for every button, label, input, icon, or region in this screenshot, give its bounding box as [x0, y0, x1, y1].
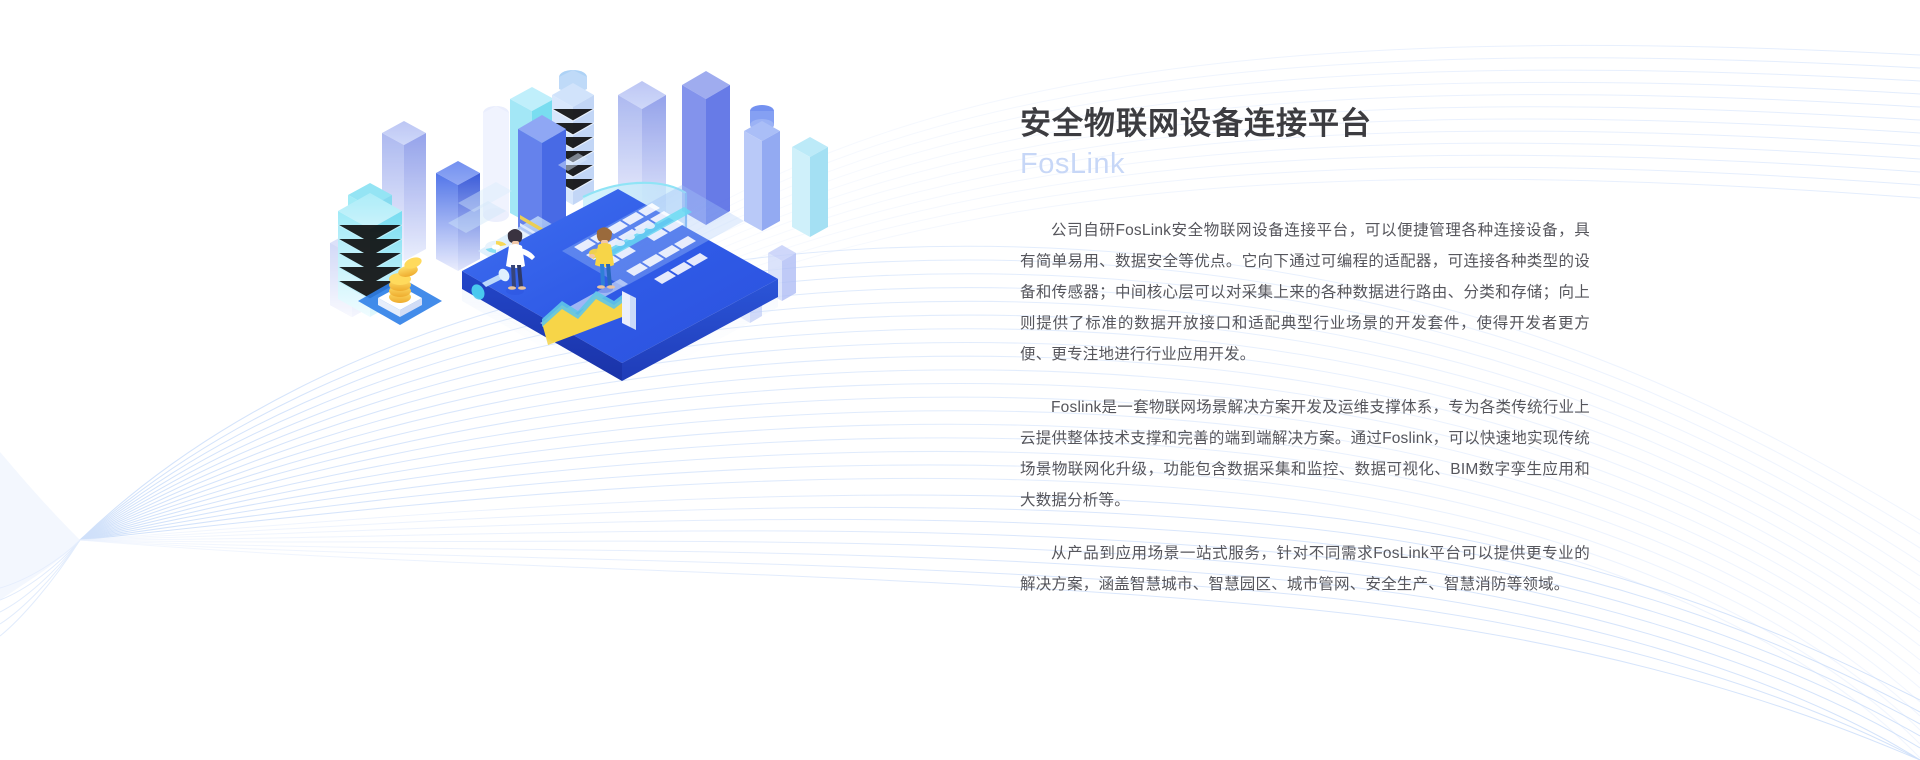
iot-platform-illustration: [330, 55, 830, 395]
description-paragraph: 公司自研FosLink安全物联网设备连接平台，可以便捷管理各种连接设备，具有简单…: [1020, 215, 1590, 370]
background-wave-lines: [0, 0, 1920, 760]
description-paragraph: 从产品到应用场景一站式服务，针对不同需求FosLink平台可以提供更专业的解决方…: [1020, 538, 1590, 600]
page-title: 安全物联网设备连接平台: [1020, 105, 1590, 144]
hero-text-column: 安全物联网设备连接平台 FosLink 公司自研FosLink安全物联网设备连接…: [1020, 105, 1590, 600]
hero-section: 安全物联网设备连接平台 FosLink 公司自研FosLink安全物联网设备连接…: [0, 0, 1920, 760]
description-paragraph: Foslink是一套物联网场景解决方案开发及运维支撑体系，专为各类传统行业上云提…: [1020, 392, 1590, 516]
product-name-subtitle: FosLink: [1020, 146, 1590, 184]
rounded-tower-right: [744, 105, 780, 231]
description-block: 公司自研FosLink安全物联网设备连接平台，可以便捷管理各种连接设备，具有简单…: [1020, 215, 1590, 600]
